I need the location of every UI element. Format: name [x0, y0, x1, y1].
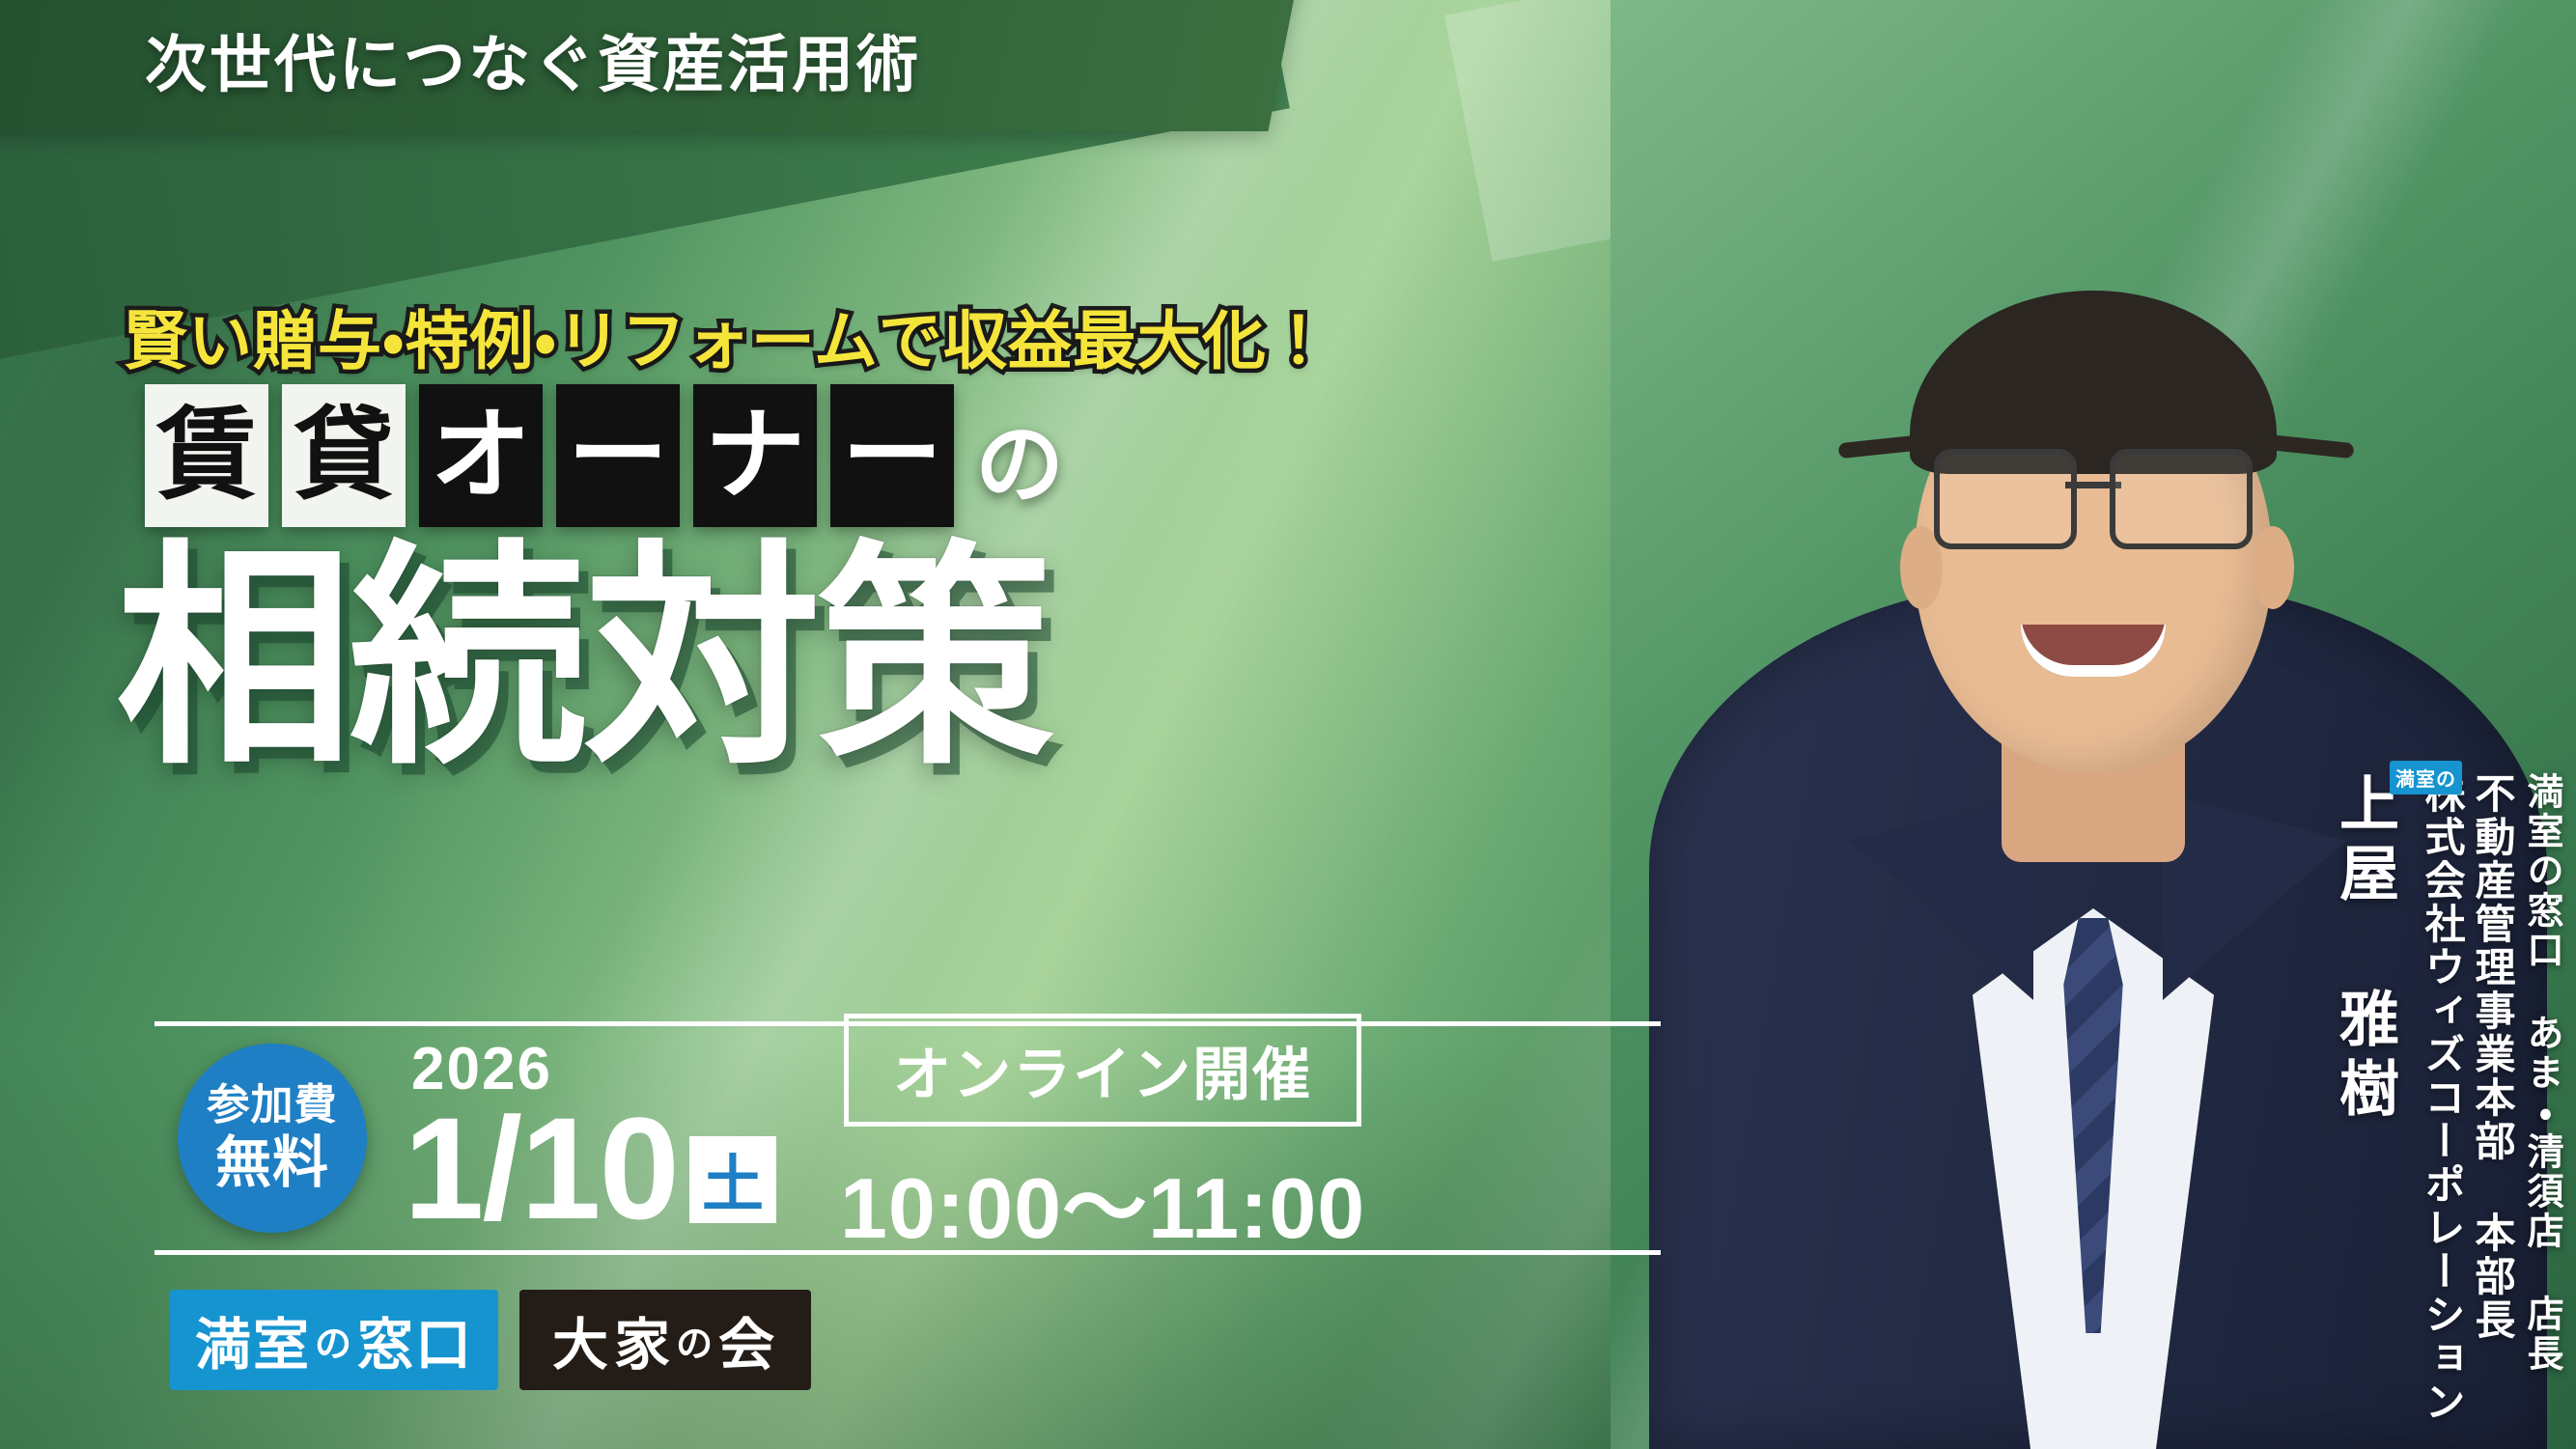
logo1-main: 満室 [195, 1299, 311, 1380]
title-boxed-row: 賃 貸 オ ー ナ ー の [145, 384, 1064, 527]
title-char-box: ー [830, 384, 954, 527]
event-time-block: オンライン開催 10:00〜11:00 [840, 1014, 1365, 1263]
event-day-of-week: 土 [689, 1136, 776, 1223]
speaker-ear-right [2252, 526, 2294, 609]
fee-badge-line2: 無料 [215, 1130, 329, 1196]
glasses-lens-right [2110, 449, 2253, 549]
event-info-bar: 参加費 無料 2026 1/10 土 オンライン開催 10:00〜11:00 [154, 1021, 1661, 1255]
fee-badge: 参加費 無料 [178, 1044, 367, 1233]
title-char-box: 賃 [145, 384, 268, 527]
event-time: 10:00〜11:00 [840, 1140, 1365, 1263]
logo2-mid: 家 [614, 1299, 674, 1380]
logo-ooya-no-kai: 大 家 の 会 [519, 1290, 811, 1390]
main-title: 相続対策 [116, 541, 1050, 778]
title-char-box: ー [556, 384, 680, 527]
logo-row: 満室 の 窓口 大 家 の 会 [170, 1290, 811, 1390]
top-ribbon-label: 次世代につなぐ資産活用術 [145, 15, 921, 104]
glasses-lens-left [1934, 449, 2077, 549]
speaker-name: 上屋 雅樹 [2319, 772, 2406, 1127]
speaker-store: 満室の窓口 あま・清須店 店長 [2515, 772, 2568, 1374]
logo1-end: 窓口 [357, 1299, 473, 1380]
title-char-box: オ [419, 384, 543, 527]
logo2-particle: の [676, 1314, 716, 1367]
logo1-mid: の [315, 1314, 353, 1367]
event-format-tag: オンライン開催 [844, 1014, 1361, 1127]
seminar-banner: 上屋 雅樹 株式会社ウィズコーポレーション 不動産管理事業本部 本部長 満室の窓… [0, 0, 2576, 1449]
event-date: 1/10 [404, 1100, 678, 1238]
event-date-block: 2026 1/10 土 [404, 1040, 776, 1238]
speaker-glasses [1934, 449, 2253, 542]
title-particle: の [975, 393, 1064, 521]
logo2-main: 大 [552, 1299, 612, 1380]
event-date-line: 1/10 土 [404, 1100, 776, 1238]
title-char-box: ナ [693, 384, 817, 527]
fee-badge-line1: 参加費 [208, 1080, 338, 1130]
logo-manshitsu-madoguchi: 満室 の 窓口 [170, 1290, 498, 1390]
catch-copy: 賢い贈与・特例・リフォームで収益最大化！ [124, 290, 1331, 382]
title-char-box: 貸 [282, 384, 406, 527]
speaker-brand-badge: 満室の [2390, 761, 2462, 794]
logo2-end: 会 [718, 1299, 778, 1380]
speaker-department: 不動産管理事業本部 本部長 [2463, 772, 2522, 1342]
